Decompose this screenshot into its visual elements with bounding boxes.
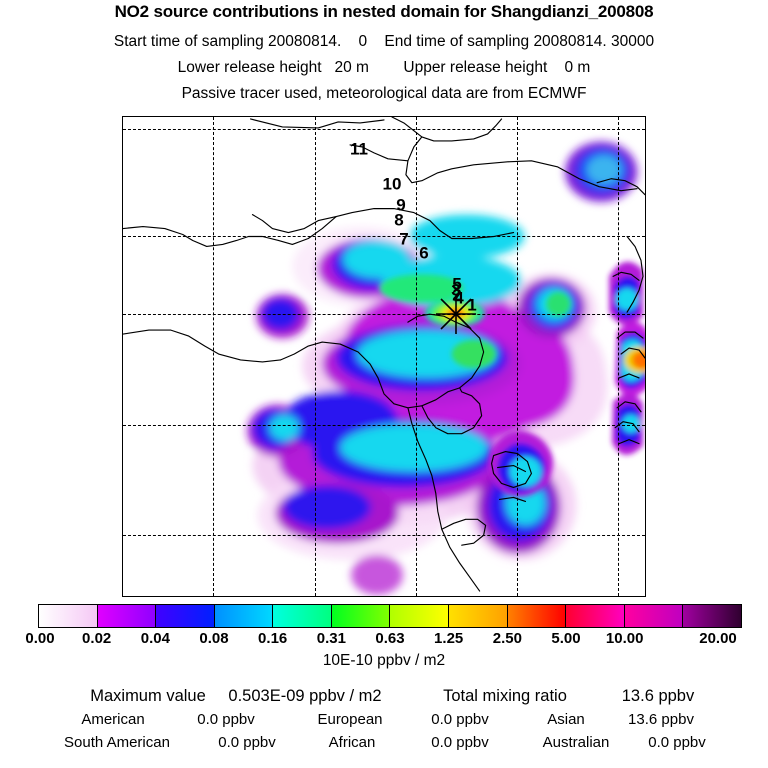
colorbar-tick-2: 0.04 bbox=[141, 630, 170, 647]
region-australian-value: 0.0 ppbv bbox=[648, 734, 706, 751]
gridline-h-3 bbox=[123, 314, 645, 315]
region-south-american-label: South American bbox=[64, 734, 170, 751]
colorbar-segment-7 bbox=[449, 605, 508, 627]
colorbar-segment-2 bbox=[156, 605, 215, 627]
summary-row-region-2: South American 0.0 ppbv African 0.0 ppbv… bbox=[0, 734, 768, 756]
total-mixing-label: Total mixing ratio bbox=[443, 687, 567, 706]
tracer-meteorology-line: Passive tracer used, meteorological data… bbox=[0, 85, 768, 103]
colorbar-tick-6: 0.63 bbox=[375, 630, 404, 647]
colorbar-tick-3: 0.08 bbox=[199, 630, 228, 647]
gridline-h-4 bbox=[123, 425, 645, 426]
colorbar-segment-8 bbox=[508, 605, 567, 627]
trajectory-label-11: 11 bbox=[350, 141, 368, 158]
gridline-v-3 bbox=[416, 117, 417, 596]
colorbar-tick-11: 20.00 bbox=[699, 630, 737, 647]
colorbar-tick-4: 0.16 bbox=[258, 630, 287, 647]
colorbar-segment-10 bbox=[625, 605, 684, 627]
gridline-v-2 bbox=[315, 117, 316, 596]
colorbar-segment-9 bbox=[566, 605, 625, 627]
release-site-star-icon bbox=[435, 293, 477, 335]
region-european-value: 0.0 ppbv bbox=[431, 711, 489, 728]
trajectory-label-6: 6 bbox=[419, 245, 428, 262]
region-american-label: American bbox=[81, 711, 144, 728]
trajectory-label-10: 10 bbox=[383, 176, 402, 193]
gridline-v-4 bbox=[517, 117, 518, 596]
colorbar-segment-6 bbox=[390, 605, 449, 627]
gridline-h-1 bbox=[123, 129, 645, 130]
colorbar bbox=[38, 604, 742, 628]
release-height-line: Lower release height 20 m Upper release … bbox=[0, 59, 768, 77]
summary-row-region-1: American 0.0 ppbv European 0.0 ppbv Asia… bbox=[0, 711, 768, 733]
region-african-label: African bbox=[329, 734, 376, 751]
colorbar-tick-8: 2.50 bbox=[493, 630, 522, 647]
trajectory-label-8: 8 bbox=[394, 212, 403, 229]
region-african-value: 0.0 ppbv bbox=[431, 734, 489, 751]
colorbar-segment-5 bbox=[332, 605, 391, 627]
gridline-v-5 bbox=[618, 117, 619, 596]
colorbar-tick-0: 0.00 bbox=[25, 630, 54, 647]
colorbar-tick-5: 0.31 bbox=[317, 630, 346, 647]
colorbar-tick-7: 1.25 bbox=[434, 630, 463, 647]
colorbar-tick-9: 5.00 bbox=[551, 630, 580, 647]
colorbar-unit-label: 10E-10 ppbv / m2 bbox=[0, 652, 768, 670]
colorbar-tick-10: 10.00 bbox=[606, 630, 644, 647]
trajectory-label-7: 7 bbox=[399, 231, 408, 248]
region-asian-label: Asian bbox=[547, 711, 585, 728]
colorbar-tick-labels: 0.000.020.040.080.160.310.631.252.505.00… bbox=[0, 630, 768, 650]
colorbar-segment-4 bbox=[273, 605, 332, 627]
gridline-v-1 bbox=[213, 117, 214, 596]
gridline-h-5 bbox=[123, 535, 645, 536]
region-european-label: European bbox=[317, 711, 382, 728]
map-canvas: 11 10 9 8 7 6 5 4 3 2 1 bbox=[123, 117, 645, 596]
sampling-time-line: Start time of sampling 20080814. 0 End t… bbox=[0, 33, 768, 51]
colorbar-segment-1 bbox=[98, 605, 157, 627]
summary-row-totals: Maximum value 0.503E-09 ppbv / m2 Total … bbox=[0, 687, 768, 709]
colorbar-segment-3 bbox=[215, 605, 274, 627]
total-mixing-value: 13.6 ppbv bbox=[622, 687, 694, 706]
colorbar-segments bbox=[38, 604, 742, 628]
gridline-h-2 bbox=[123, 236, 645, 237]
colorbar-segment-11 bbox=[683, 605, 741, 627]
region-australian-label: Australian bbox=[543, 734, 610, 751]
max-value-label: Maximum value bbox=[90, 687, 206, 706]
colorbar-segment-0 bbox=[39, 605, 98, 627]
region-asian-value: 13.6 ppbv bbox=[628, 711, 694, 728]
max-value-value: 0.503E-09 ppbv / m2 bbox=[228, 687, 381, 706]
region-south-american-value: 0.0 ppbv bbox=[218, 734, 276, 751]
map-plot-area[interactable]: 11 10 9 8 7 6 5 4 3 2 1 bbox=[122, 116, 646, 597]
page-title: NO2 source contributions in nested domai… bbox=[0, 2, 768, 22]
colorbar-tick-1: 0.02 bbox=[82, 630, 111, 647]
region-american-value: 0.0 ppbv bbox=[197, 711, 255, 728]
